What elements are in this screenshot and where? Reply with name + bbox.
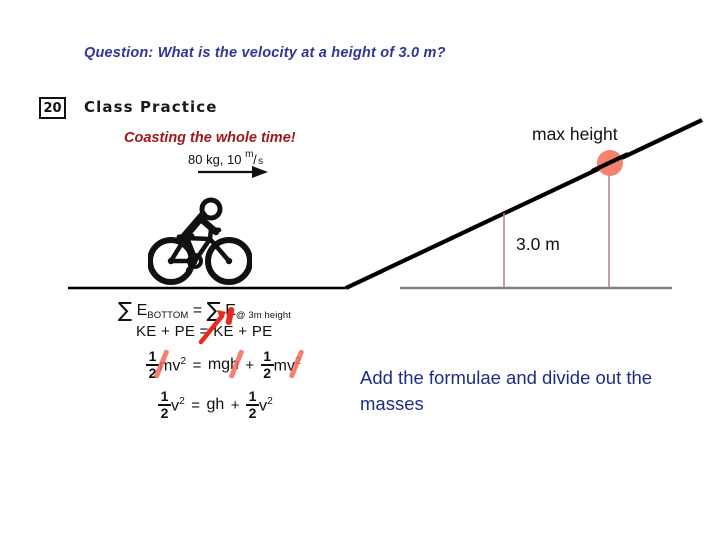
mv-squared-term-2: mv2: [274, 355, 301, 375]
fraction-numerator: 1: [261, 348, 274, 364]
plus-sign-mv: +: [243, 357, 256, 374]
exponent-1: 2: [180, 355, 186, 367]
fraction-numerator: 1: [146, 348, 159, 364]
mass-symbol-2: m: [274, 357, 287, 374]
exponent-2: 2: [295, 355, 301, 367]
energy-bottom-base: E: [137, 302, 148, 319]
mgh-symbol: mgh: [208, 356, 239, 373]
gh-term: gh: [207, 396, 225, 414]
v-squared-term-2: v2: [259, 395, 273, 415]
mv-equation: 1 2 mv2 = mgh + 1 2 mv2: [146, 347, 301, 385]
exponent-4: 2: [267, 395, 273, 407]
slide-canvas: Question: What is the velocity at a heig…: [0, 0, 720, 540]
height-value-label: 3.0 m: [516, 234, 560, 255]
fraction-denominator: 2: [146, 365, 159, 381]
sigma-symbol-left: ∑: [118, 298, 132, 322]
one-half-fraction-2: 1 2: [261, 347, 274, 381]
equals-sign-v: =: [189, 397, 202, 414]
instruction-text: Add the formulae and divide out the mass…: [360, 365, 680, 417]
energy-height-subscript: @ 3m height: [236, 310, 291, 321]
fraction-denominator: 2: [158, 405, 171, 421]
fraction-denominator: 2: [261, 365, 274, 381]
velocity-symbol-4: v: [259, 397, 267, 414]
equals-sign-mv: =: [191, 357, 204, 374]
max-height-label: max height: [532, 124, 618, 145]
mv-squared-term-1: mv2: [159, 355, 186, 375]
gh-symbol: gh: [207, 396, 225, 413]
v-equation: 1 2 v2 = gh + 1 2 v2: [158, 387, 301, 425]
fraction-denominator: 2: [246, 405, 259, 421]
plus-sign-v: +: [229, 397, 242, 414]
v-squared-term-1: v2: [171, 395, 185, 415]
one-half-fraction-1: 1 2: [146, 347, 159, 381]
mass-symbol-1: m: [159, 357, 172, 374]
ramp-diagram: [0, 0, 720, 540]
energy-bottom-subscript: BOTTOM: [147, 310, 188, 321]
ramp-line: [346, 120, 702, 288]
one-half-fraction-4: 1 2: [246, 387, 259, 421]
exponent-3: 2: [179, 395, 185, 407]
pe-cancel-annotation-icon: [196, 306, 240, 346]
mgh-term: mgh: [208, 356, 239, 374]
velocity-symbol-2: v: [287, 357, 295, 374]
fraction-numerator: 1: [246, 388, 259, 404]
fraction-numerator: 1: [158, 388, 171, 404]
one-half-fraction-3: 1 2: [158, 387, 171, 421]
velocity-symbol-3: v: [171, 397, 179, 414]
